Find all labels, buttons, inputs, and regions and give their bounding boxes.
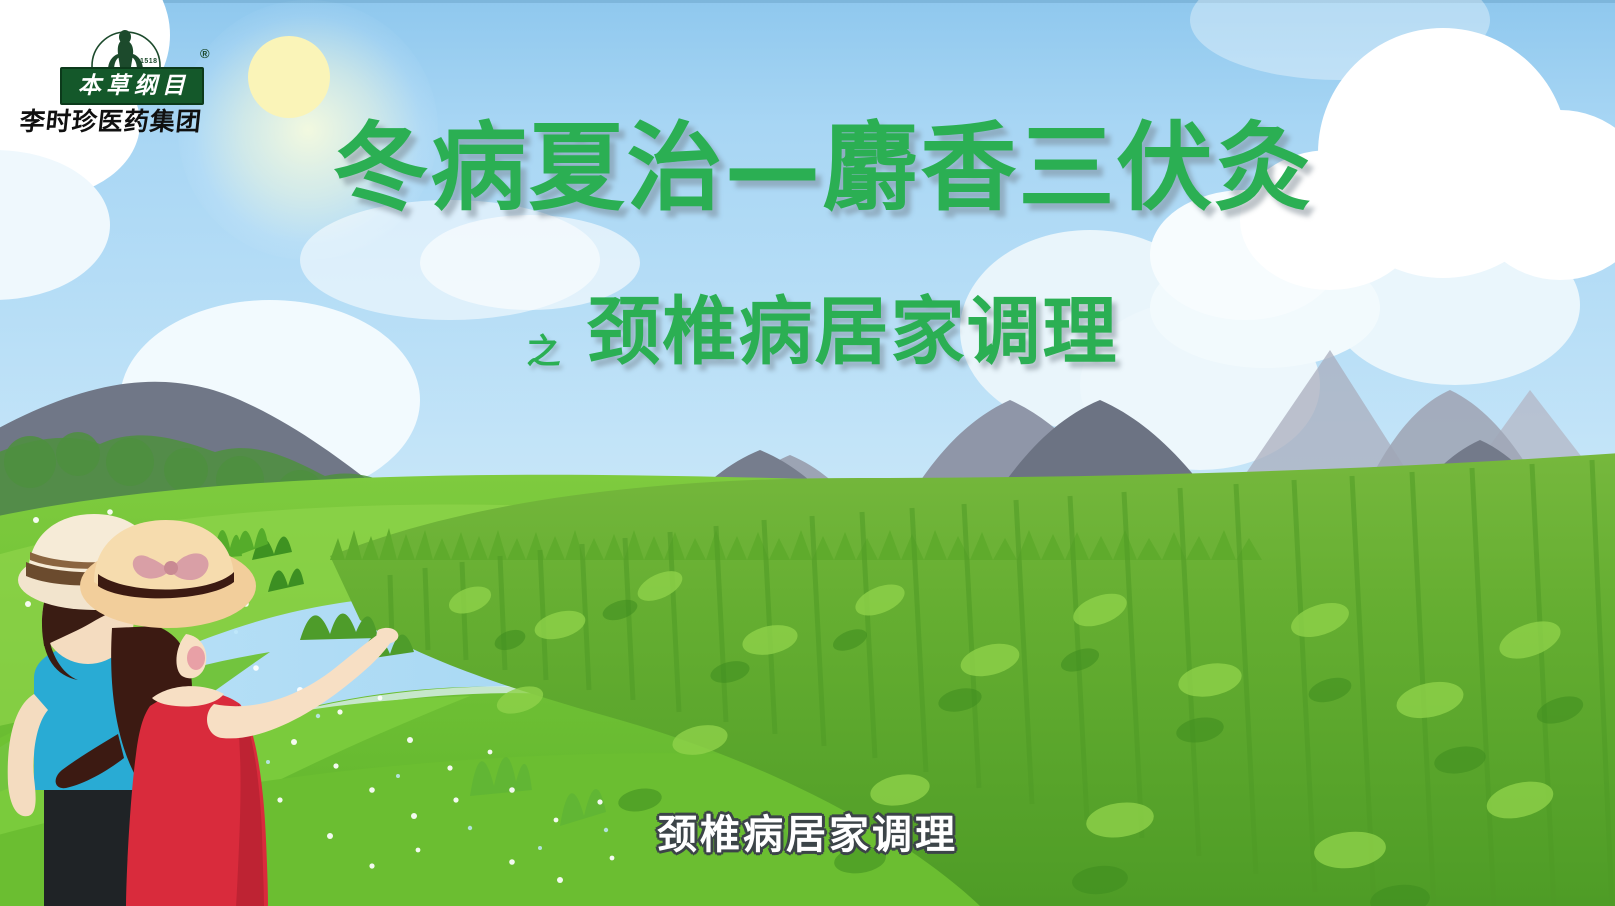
subtitle-main: 颈椎病居家调理 — [587, 289, 1119, 375]
logo-name-plate: 本草纲目 — [60, 67, 204, 105]
brand-logo: HERBALPEDIA ® 1518 本草纲目 李时珍医药集团 — [12, 10, 237, 130]
herbalpedia-emblem-icon: HERBALPEDIA — [12, 10, 237, 72]
registered-mark-icon: ® — [200, 46, 210, 61]
logo-box-text: 本草纲目 — [74, 75, 190, 98]
video-frame: HERBALPEDIA ® 1518 本草纲目 李时珍医药集团 冬病夏治—麝香三… — [0, 0, 1615, 906]
svg-text:HERBALPEDIA: HERBALPEDIA — [62, 10, 189, 13]
subtitle-prefix: 之 — [527, 332, 561, 372]
logo-arc-text: HERBALPEDIA — [62, 10, 189, 13]
page-title: 冬病夏治—麝香三伏灸 — [0, 118, 1615, 219]
page-subtitle: 之颈椎病居家调理 — [0, 272, 1615, 379]
logo-year-text: 1518 — [140, 58, 158, 65]
video-caption: 颈椎病居家调理 — [0, 802, 1615, 860]
